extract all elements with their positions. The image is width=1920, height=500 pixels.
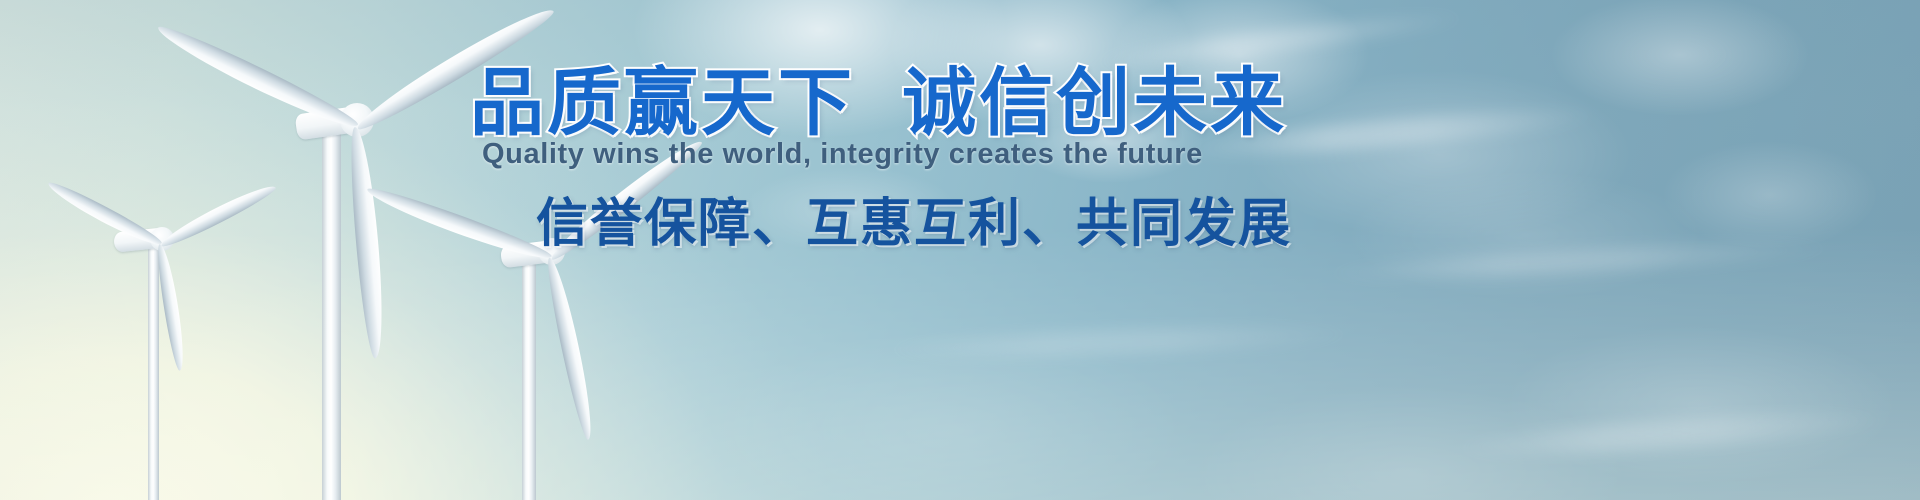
turbine-mast	[322, 128, 341, 500]
banner-slogan: 信誉保障、互惠互利、共同发展	[536, 198, 1292, 250]
banner-headline: 品质赢天下 诚信创未来	[470, 66, 1287, 140]
turbine-mast	[148, 243, 159, 500]
hero-banner: 品质赢天下 诚信创未来 Quality wins the world, inte…	[0, 0, 1920, 500]
banner-subtitle-english: Quality wins the world, integrity create…	[482, 140, 1203, 169]
turbine-mast	[522, 258, 536, 500]
